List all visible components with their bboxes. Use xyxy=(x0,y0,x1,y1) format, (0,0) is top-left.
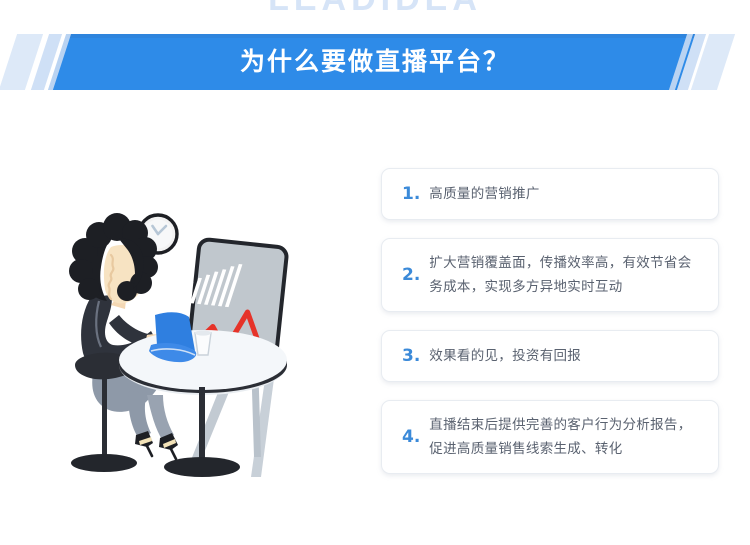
list-item-label: 扩大营销覆盖面，传播效率高，有效节省会务成本，实现多方异地实时互动 xyxy=(429,251,700,299)
page-title: 为什么要做直播平台？ xyxy=(0,34,750,90)
illustration xyxy=(55,195,330,495)
list-item[interactable]: 2. 扩大营销覆盖面，传播效率高，有效节省会务成本，实现多方异地实时互动 xyxy=(381,238,719,312)
slide-root: LEADIDEA 为什么要做直播平台？ xyxy=(0,0,750,545)
list-item-number: 4. xyxy=(402,428,420,446)
list-item-label: 直播结束后提供完善的客户行为分析报告，促进高质量销售线索生成、转化 xyxy=(429,413,700,461)
list-item-number: 1. xyxy=(402,185,420,203)
coffee-cup xyxy=(195,330,211,355)
list-item[interactable]: 1. 高质量的营销推广 xyxy=(381,168,719,220)
shoe-left xyxy=(135,431,153,456)
list-item-number: 3. xyxy=(402,347,420,365)
banner-watermark-text: LEADIDEA xyxy=(0,0,750,19)
list-item[interactable]: 4. 直播结束后提供完善的客户行为分析报告，促进高质量销售线索生成、转化 xyxy=(381,400,719,474)
list-item[interactable]: 3. 效果看的见，投资有回报 xyxy=(381,330,719,382)
list-item-label: 高质量的营销推广 xyxy=(429,182,539,206)
benefits-list: 1. 高质量的营销推广 2. 扩大营销覆盖面，传播效率高，有效节省会务成本，实现… xyxy=(381,168,719,492)
list-item-label: 效果看的见，投资有回报 xyxy=(429,344,581,368)
list-item-number: 2. xyxy=(402,266,420,284)
